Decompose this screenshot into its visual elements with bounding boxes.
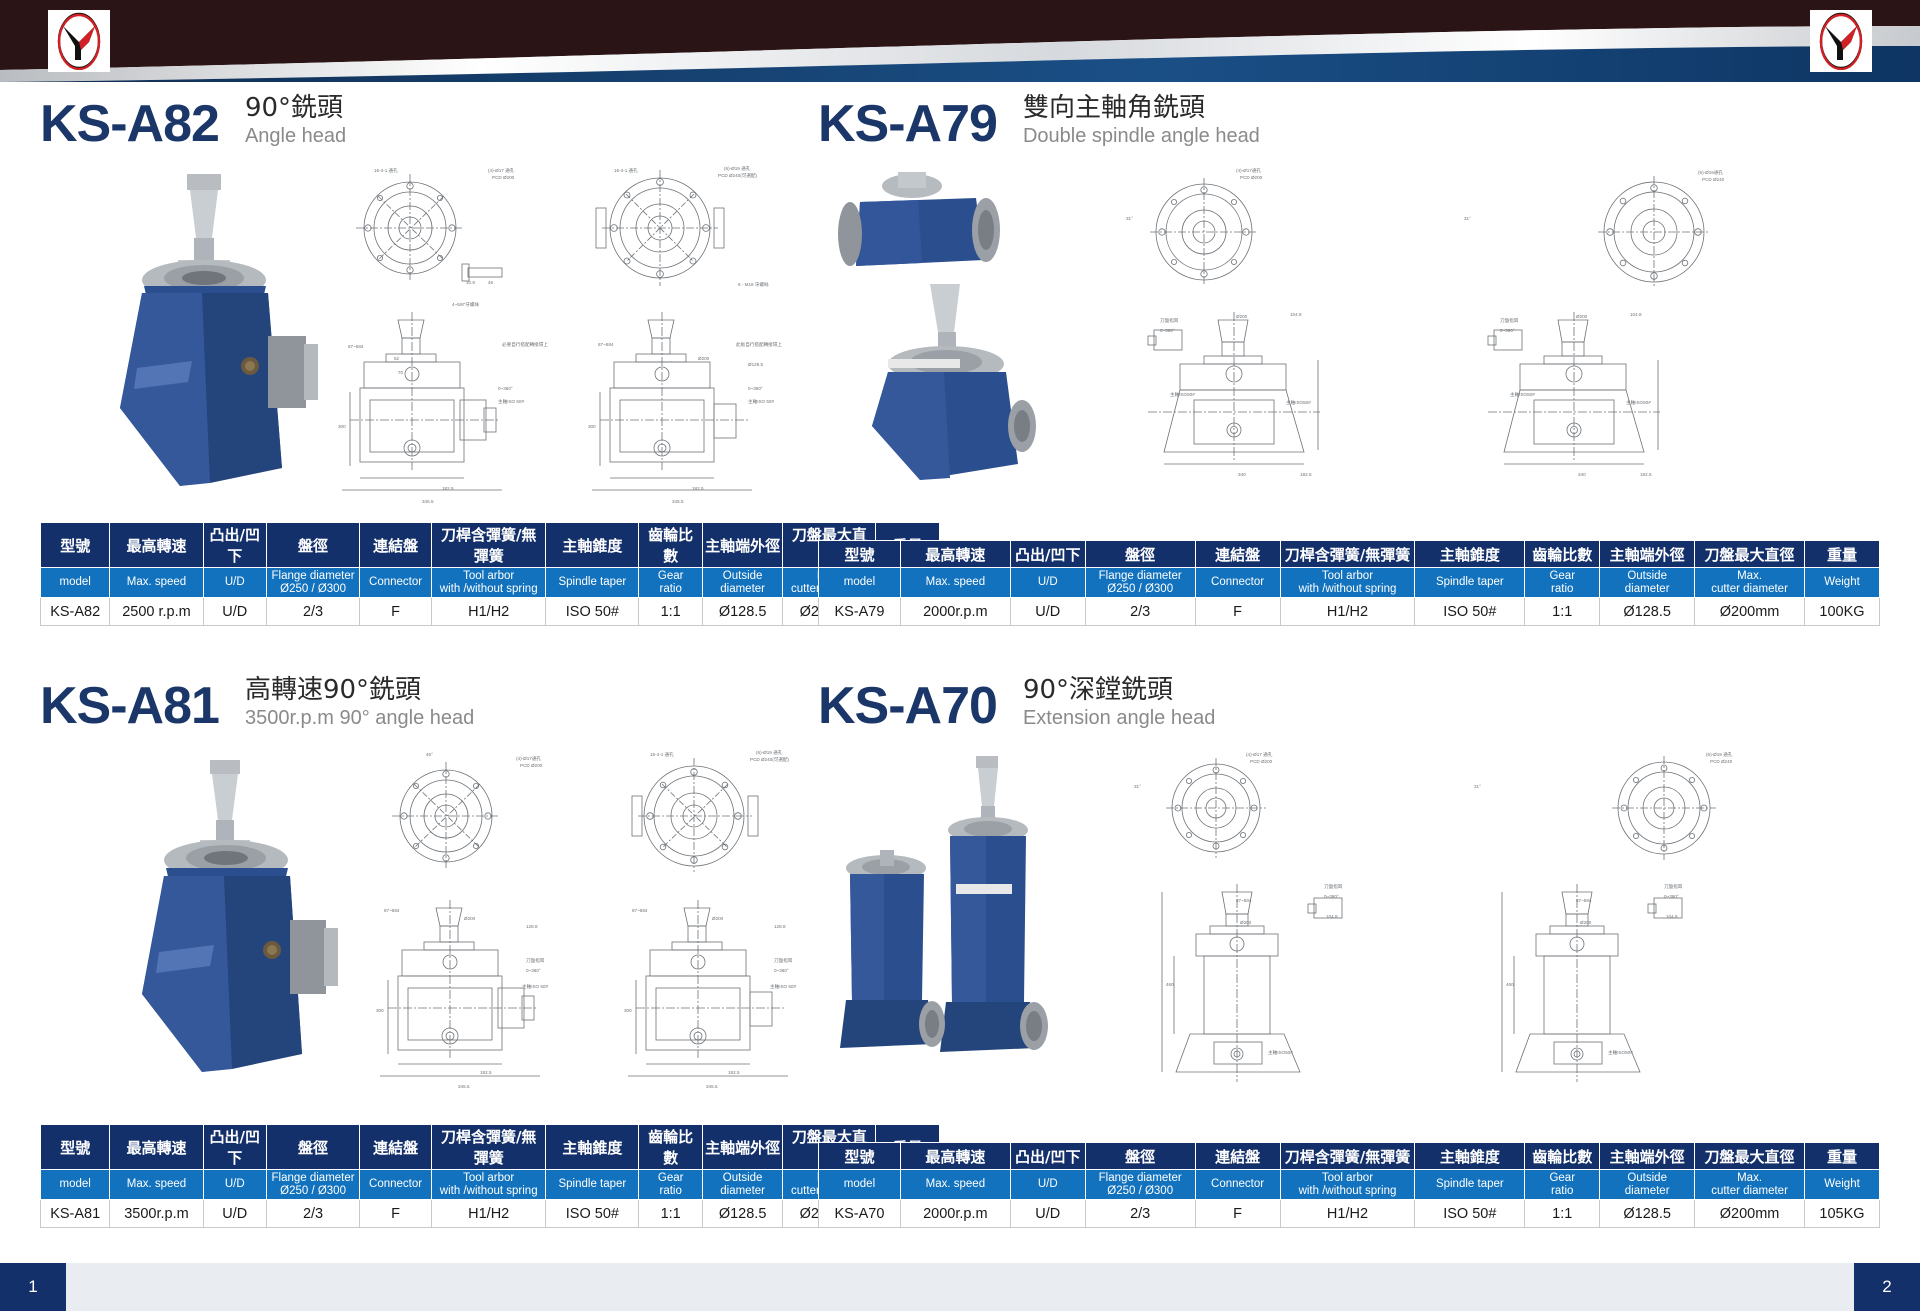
column-header-en-3: Flange diameterØ250 / Ø300: [267, 568, 360, 598]
cell-7: 1:1: [639, 1200, 702, 1228]
column-header-cn-2: 凸出/凹下: [1010, 541, 1085, 568]
svg-text:(6)-Ø19 通孔: (6)-Ø19 通孔: [724, 165, 751, 172]
column-header-cn-7: 齒輪比數: [639, 523, 702, 568]
spec-table-wrapper-ks-a82: 型號最高轉速凸出/凹下盤徑連結盤刀桿含彈簧/無彈簧主軸錐度齒輪比數主軸端外徑刀盤…: [40, 522, 940, 626]
cell-4: F: [1195, 1200, 1280, 1228]
column-header-en-1: Max. speed: [900, 568, 1010, 598]
svg-text:300: 300: [376, 1008, 384, 1013]
column-header-en-0: model: [819, 1170, 901, 1200]
svg-text:0~360°: 0~360°: [1500, 328, 1515, 333]
column-header-en-10: Weight: [1805, 1170, 1880, 1200]
cell-0: KS-A81: [41, 1200, 110, 1228]
svg-text:0~360°: 0~360°: [1160, 328, 1175, 333]
illustration-area: 16-4-1 通孔 (4)-Ø17 通孔 PCD Ø200 10.8 46 4~…: [40, 160, 940, 505]
column-header-en-6: Spindle taper: [1415, 568, 1525, 598]
column-header-en-8: Outsidediameter: [1600, 568, 1695, 598]
technical-drawing-side: (6)-Ø19 通孔 PCD Ø240 31° 87~584 刀盤指耳 0~36…: [1458, 742, 1838, 1092]
column-header-en-4: Connector: [1195, 1170, 1280, 1200]
cell-1: 2500 r.p.m: [110, 598, 203, 626]
technical-drawing-side: 16-4-1 通孔 (6)-Ø19 通孔 PCD Ø240(可選配) 87~58…: [588, 742, 848, 1092]
svg-text:87~584: 87~584: [348, 344, 364, 349]
technical-drawing-side: (6)-Ø19通孔 PCD Ø240 31° 刀盤指耳 0~360° Ø200 …: [1448, 160, 1828, 505]
product-block-ks-a70: KS-A70 90°深鏜銑頭 Extension angle head: [818, 668, 1880, 1228]
cell-6: ISO 50#: [1415, 1200, 1525, 1228]
cell-2: U/D: [1010, 1200, 1085, 1228]
svg-text:(4)-Ø17通孔: (4)-Ø17通孔: [1236, 167, 1261, 174]
product-name-en: Double spindle angle head: [1023, 124, 1260, 148]
svg-text:此板自行搭配轉接環上: 此板自行搭配轉接環上: [736, 341, 782, 348]
column-header-en-6: Spindle taper: [546, 568, 639, 598]
svg-text:128.8: 128.8: [526, 924, 538, 929]
column-header-en-6: Spindle taper: [546, 1170, 639, 1200]
column-header-cn-10: 重量: [1805, 541, 1880, 568]
column-header-en-7: Gearratio: [1525, 568, 1600, 598]
table-row: KS-A813500r.p.mU/D2/3FH1/H2ISO 50#1:1Ø12…: [41, 1200, 940, 1228]
column-header-cn-8: 主軸端外徑: [1600, 541, 1695, 568]
column-header-en-5: Tool arborwith /without spring: [432, 568, 546, 598]
cell-4: F: [1195, 598, 1280, 626]
svg-text:16-4-1 通孔: 16-4-1 通孔: [374, 167, 398, 174]
product-title-row: KS-A81 高轉速90°銑頭 3500r.p.m 90° angle head: [40, 668, 940, 732]
table-header-row-en: modelMax. speedU/DFlange diameterØ250 / …: [819, 568, 1880, 598]
svg-text:刀盤指耳: 刀盤指耳: [1500, 317, 1519, 324]
column-header-cn-2: 凸出/凹下: [203, 1125, 266, 1170]
table-header-row-cn: 型號最高轉速凸出/凹下盤徑連結盤刀桿含彈簧/無彈簧主軸錐度齒輪比數主軸端外徑刀盤…: [41, 1125, 940, 1170]
svg-text:6 - M18 牙螺絲: 6 - M18 牙螺絲: [738, 281, 769, 288]
svg-text:460: 460: [1506, 982, 1514, 987]
svg-text:(6)-Ø19 通孔: (6)-Ø19 通孔: [1706, 751, 1733, 758]
product-photo: [826, 164, 1076, 494]
column-header-cn-4: 連結盤: [360, 523, 432, 568]
cell-4: F: [360, 1200, 432, 1228]
page-footer: 1 2: [0, 1263, 1920, 1311]
column-header-en-0: model: [41, 568, 110, 598]
column-header-cn-0: 型號: [41, 523, 110, 568]
svg-text:(4)-Ø17通孔: (4)-Ø17通孔: [516, 755, 541, 762]
column-header-en-5: Tool arborwith /without spring: [1280, 568, 1415, 598]
svg-text:Ø200: Ø200: [464, 916, 476, 921]
svg-text:0~360°: 0~360°: [526, 968, 541, 973]
svg-text:300: 300: [624, 1008, 632, 1013]
cell-6: ISO 50#: [546, 1200, 639, 1228]
column-header-cn-7: 齒輪比數: [1525, 541, 1600, 568]
page-number-right: 2: [1854, 1263, 1920, 1311]
column-header-cn-9: 刀盤最大直徑: [1695, 541, 1805, 568]
column-header-en-8: Outsidediameter: [1600, 1170, 1695, 1200]
column-header-en-8: Outsidediameter: [702, 1170, 782, 1200]
cell-7: 1:1: [639, 598, 702, 626]
svg-text:PCD Ø200: PCD Ø200: [1250, 759, 1273, 764]
column-header-cn-7: 齒輪比數: [1525, 1143, 1600, 1170]
product-name-en: Angle head: [245, 124, 346, 148]
product-block-ks-a81: KS-A81 高轉速90°銑頭 3500r.p.m 90° angle head: [40, 668, 940, 1228]
svg-text:52: 52: [394, 356, 400, 361]
column-header-cn-5: 刀桿含彈簧/無彈簧: [432, 523, 546, 568]
svg-text:0~360°: 0~360°: [748, 386, 763, 391]
top-banner: [0, 0, 1920, 82]
column-header-cn-3: 盤徑: [267, 1125, 360, 1170]
column-header-cn-5: 刀桿含彈簧/無彈簧: [432, 1125, 546, 1170]
svg-text:182.5: 182.5: [1300, 472, 1312, 477]
svg-text:300: 300: [338, 424, 346, 429]
cell-8: Ø128.5: [702, 598, 782, 626]
column-header-en-3: Flange diameterØ250 / Ø300: [1085, 1170, 1195, 1200]
svg-text:45°: 45°: [426, 752, 433, 757]
cell-5: H1/H2: [432, 598, 546, 626]
column-header-en-7: Gearratio: [639, 568, 702, 598]
svg-text:刀盤指耳: 刀盤指耳: [526, 957, 545, 964]
svg-text:主軸ISO 50#: 主軸ISO 50#: [748, 398, 774, 405]
product-name-en: 3500r.p.m 90° angle head: [245, 706, 474, 730]
cell-10: 100KG: [1805, 598, 1880, 626]
column-header-cn-2: 凸出/凹下: [1010, 1143, 1085, 1170]
svg-text:(4)-Ø17 通孔: (4)-Ø17 通孔: [1246, 751, 1273, 758]
svg-text:46: 46: [488, 280, 494, 285]
table-header-row-cn: 型號最高轉速凸出/凹下盤徑連結盤刀桿含彈簧/無彈簧主軸錐度齒輪比數主軸端外徑刀盤…: [819, 541, 1880, 568]
column-header-cn-4: 連結盤: [1195, 541, 1280, 568]
product-name-cn: 90°深鏜銑頭: [1023, 676, 1215, 706]
column-header-cn-6: 主軸錐度: [1415, 541, 1525, 568]
product-code: KS-A81: [40, 680, 219, 732]
svg-text:Ø200: Ø200: [698, 356, 710, 361]
svg-text:345.5: 345.5: [672, 499, 684, 504]
svg-text:刀盤指耳: 刀盤指耳: [1160, 317, 1179, 324]
column-header-cn-1: 最高轉速: [900, 1143, 1010, 1170]
svg-text:104.8: 104.8: [1290, 312, 1302, 317]
svg-text:Ø200: Ø200: [1580, 920, 1592, 925]
svg-text:PCD Ø240(可選配): PCD Ø240(可選配): [718, 172, 758, 179]
cell-0: KS-A70: [819, 1200, 901, 1228]
cell-7: 1:1: [1525, 598, 1600, 626]
product-photo: [98, 756, 348, 1086]
product-code: KS-A82: [40, 98, 219, 150]
svg-text:4~5/8"牙螺絲: 4~5/8"牙螺絲: [452, 301, 479, 308]
column-header-en-0: model: [41, 1170, 110, 1200]
column-header-cn-0: 型號: [41, 1125, 110, 1170]
svg-text:31°: 31°: [1134, 784, 1141, 789]
svg-text:87~584: 87~584: [384, 908, 400, 913]
column-header-en-7: Gearratio: [639, 1170, 702, 1200]
svg-text:Ø128.5: Ø128.5: [748, 362, 764, 367]
svg-text:(6)-Ø19通孔: (6)-Ø19通孔: [1698, 169, 1723, 176]
svg-text:0~360°: 0~360°: [774, 968, 789, 973]
svg-text:主軸ISO 50#: 主軸ISO 50#: [498, 398, 524, 405]
svg-text:70: 70: [398, 370, 404, 375]
page-number-left: 1: [0, 1263, 66, 1311]
cell-0: KS-A79: [819, 598, 901, 626]
svg-text:182.5: 182.5: [728, 1070, 740, 1075]
column-header-en-3: Flange diameterØ250 / Ø300: [267, 1170, 360, 1200]
product-name-cn: 高轉速90°銑頭: [245, 676, 474, 706]
svg-text:Ø200: Ø200: [712, 916, 724, 921]
table-header-row-cn: 型號最高轉速凸出/凹下盤徑連結盤刀桿含彈簧/無彈簧主軸錐度齒輪比數主軸端外徑刀盤…: [819, 1143, 1880, 1170]
svg-text:87~584: 87~584: [1236, 898, 1252, 903]
column-header-cn-4: 連結盤: [1195, 1143, 1280, 1170]
svg-text:PCD Ø240: PCD Ø240: [1710, 759, 1733, 764]
column-header-en-0: model: [819, 568, 901, 598]
cell-6: ISO 50#: [1415, 598, 1525, 626]
svg-text:PCD Ø240: PCD Ø240: [1702, 177, 1725, 182]
product-block-ks-a82: KS-A82 90°銑頭 Angle head: [40, 86, 940, 626]
column-header-cn-10: 重量: [1805, 1143, 1880, 1170]
column-header-en-10: Weight: [1805, 568, 1880, 598]
illustration-area: (4)-Ø17 通孔 PCD Ø200 31° 87~584 刀盤指耳 0~36…: [818, 742, 1880, 1102]
spec-table-wrapper-ks-a79: 型號最高轉速凸出/凹下盤徑連結盤刀桿含彈簧/無彈簧主軸錐度齒輪比數主軸端外徑刀盤…: [818, 540, 1880, 626]
column-header-cn-0: 型號: [819, 1143, 901, 1170]
cell-8: Ø128.5: [1600, 598, 1695, 626]
column-header-en-1: Max. speed: [110, 568, 203, 598]
table-header-row-en: modelMax. speedU/DFlange diameterØ250 / …: [41, 568, 940, 598]
product-title-row: KS-A70 90°深鏜銑頭 Extension angle head: [818, 668, 1880, 732]
svg-text:Ø200: Ø200: [1240, 920, 1252, 925]
svg-text:87~584: 87~584: [632, 908, 648, 913]
column-header-en-8: Outsidediameter: [702, 568, 782, 598]
cell-2: U/D: [1010, 598, 1085, 626]
column-header-en-3: Flange diameterØ250 / Ø300: [1085, 568, 1195, 598]
product-photo: [828, 752, 1088, 1092]
cell-2: U/D: [203, 598, 266, 626]
column-header-cn-6: 主軸錐度: [546, 1125, 639, 1170]
svg-text:(6)-Ø19 通孔: (6)-Ø19 通孔: [756, 749, 783, 756]
cell-9: Ø200mm: [1695, 598, 1805, 626]
svg-text:87~584: 87~584: [1576, 898, 1592, 903]
column-header-en-9: Max.cutter diameter: [1695, 1170, 1805, 1200]
product-name-cn: 雙向主軸角銑頭: [1023, 94, 1260, 124]
column-header-cn-8: 主軸端外徑: [1600, 1143, 1695, 1170]
svg-text:16-4-1 通孔: 16-4-1 通孔: [614, 167, 638, 174]
product-code: KS-A79: [818, 98, 997, 150]
product-name-cn: 90°銑頭: [245, 94, 346, 124]
svg-text:460: 460: [1166, 982, 1174, 987]
svg-text:主軸ISO 50#: 主軸ISO 50#: [522, 983, 548, 990]
column-header-en-1: Max. speed: [900, 1170, 1010, 1200]
table-header-row-en: modelMax. speedU/DFlange diameterØ250 / …: [41, 1170, 940, 1200]
svg-text:16-4-1 通孔: 16-4-1 通孔: [650, 751, 674, 758]
cell-1: 3500r.p.m: [110, 1200, 203, 1228]
svg-text:PCD Ø240(可選配): PCD Ø240(可選配): [750, 756, 790, 763]
cell-8: Ø128.5: [702, 1200, 782, 1228]
svg-text:87~584: 87~584: [598, 342, 614, 347]
column-header-en-2: U/D: [203, 568, 266, 598]
spec-table: 型號最高轉速凸出/凹下盤徑連結盤刀桿含彈簧/無彈簧主軸錐度齒輪比數主軸端外徑刀盤…: [818, 1142, 1880, 1228]
column-header-cn-4: 連結盤: [360, 1125, 432, 1170]
svg-text:主軸ISO50#: 主軸ISO50#: [1510, 391, 1535, 398]
company-logo-left: [48, 10, 110, 72]
column-header-cn-1: 最高轉速: [110, 1125, 203, 1170]
svg-text:主軸ISO50#: 主軸ISO50#: [1608, 1049, 1633, 1056]
cell-1: 2000r.p.m: [900, 1200, 1010, 1228]
column-header-cn-5: 刀桿含彈簧/無彈簧: [1280, 541, 1415, 568]
cell-1: 2000r.p.m: [900, 598, 1010, 626]
technical-drawing-front: 45° (4)-Ø17通孔 PCD Ø200 87~584 300 182.5 …: [340, 742, 600, 1092]
product-photo: [82, 168, 332, 498]
column-header-cn-3: 盤徑: [267, 523, 360, 568]
svg-text:128.8: 128.8: [774, 924, 786, 929]
spec-table-wrapper-ks-a81: 型號最高轉速凸出/凹下盤徑連結盤刀桿含彈簧/無彈簧主軸錐度齒輪比數主軸端外徑刀盤…: [40, 1124, 940, 1228]
svg-text:主軸ISO 50#: 主軸ISO 50#: [770, 983, 796, 990]
column-header-en-6: Spindle taper: [1415, 1170, 1525, 1200]
svg-text:PCD Ø200: PCD Ø200: [492, 175, 515, 180]
product-title-row: KS-A79 雙向主軸角銑頭 Double spindle angle head: [818, 86, 1880, 150]
column-header-en-4: Connector: [360, 568, 432, 598]
technical-drawing-front: 16-4-1 通孔 (4)-Ø17 通孔 PCD Ø200 10.8 46 4~…: [302, 160, 562, 505]
svg-text:PCD Ø200: PCD Ø200: [1240, 175, 1263, 180]
cell-3: 2/3: [267, 598, 360, 626]
illustration-area: (4)-Ø17通孔 PCD Ø200 31° 刀盤指耳 0~360° Ø200 …: [818, 160, 1880, 505]
svg-text:必要自行搭配轉接環上: 必要自行搭配轉接環上: [502, 341, 548, 348]
spec-table: 型號最高轉速凸出/凹下盤徑連結盤刀桿含彈簧/無彈簧主軸錐度齒輪比數主軸端外徑刀盤…: [40, 1124, 940, 1228]
column-header-cn-3: 盤徑: [1085, 1143, 1195, 1170]
catalog-page: KS-A82 90°銑頭 Angle head: [0, 0, 1920, 1311]
svg-text:340: 340: [1578, 472, 1586, 477]
column-header-cn-3: 盤徑: [1085, 541, 1195, 568]
company-logo-right: [1810, 10, 1872, 72]
svg-text:345.5: 345.5: [706, 1084, 718, 1089]
svg-text:31°: 31°: [1126, 216, 1133, 221]
spec-table: 型號最高轉速凸出/凹下盤徑連結盤刀桿含彈簧/無彈簧主軸錐度齒輪比數主軸端外徑刀盤…: [818, 540, 1880, 626]
illustration-area: 45° (4)-Ø17通孔 PCD Ø200 87~584 300 182.5 …: [40, 742, 940, 1102]
cell-2: U/D: [203, 1200, 266, 1228]
cell-3: 2/3: [267, 1200, 360, 1228]
table-header-row-cn: 型號最高轉速凸出/凹下盤徑連結盤刀桿含彈簧/無彈簧主軸錐度齒輪比數主軸端外徑刀盤…: [41, 523, 940, 568]
cell-7: 1:1: [1525, 1200, 1600, 1228]
table-row: KS-A822500 r.p.mU/D2/3FH1/H2ISO 50#1:1Ø1…: [41, 598, 940, 626]
column-header-cn-8: 主軸端外徑: [702, 1125, 782, 1170]
cell-10: 105KG: [1805, 1200, 1880, 1228]
svg-text:31°: 31°: [1474, 784, 1481, 789]
svg-text:刀盤指耳: 刀盤指耳: [1664, 883, 1683, 890]
cell-5: H1/H2: [432, 1200, 546, 1228]
svg-text:刀盤指耳: 刀盤指耳: [774, 957, 793, 964]
svg-text:345.5: 345.5: [458, 1084, 470, 1089]
table-row: KS-A792000r.p.mU/D2/3FH1/H2ISO 50#1:1Ø12…: [819, 598, 1880, 626]
column-header-cn-5: 刀桿含彈簧/無彈簧: [1280, 1143, 1415, 1170]
column-header-en-4: Connector: [1195, 568, 1280, 598]
svg-text:340: 340: [1238, 472, 1246, 477]
cell-5: H1/H2: [1280, 1200, 1415, 1228]
technical-drawing-front: (4)-Ø17通孔 PCD Ø200 31° 刀盤指耳 0~360° Ø200 …: [1108, 160, 1488, 505]
table-header-row-en: modelMax. speedU/DFlange diameterØ250 / …: [819, 1170, 1880, 1200]
column-header-en-5: Tool arborwith /without spring: [432, 1170, 546, 1200]
column-header-cn-0: 型號: [819, 541, 901, 568]
svg-text:300: 300: [588, 424, 596, 429]
column-header-cn-6: 主軸錐度: [546, 523, 639, 568]
cell-3: 2/3: [1085, 1200, 1195, 1228]
column-header-cn-1: 最高轉速: [110, 523, 203, 568]
product-name-en: Extension angle head: [1023, 706, 1215, 730]
product-title-row: KS-A82 90°銑頭 Angle head: [40, 86, 940, 150]
column-header-en-2: U/D: [1010, 1170, 1085, 1200]
spec-table-wrapper-ks-a70: 型號最高轉速凸出/凹下盤徑連結盤刀桿含彈簧/無彈簧主軸錐度齒輪比數主軸端外徑刀盤…: [818, 1142, 1880, 1228]
svg-text:PCD Ø200: PCD Ø200: [520, 763, 543, 768]
column-header-en-2: U/D: [1010, 568, 1085, 598]
svg-text:Ø200: Ø200: [1236, 314, 1248, 319]
technical-drawing-front: (4)-Ø17 通孔 PCD Ø200 31° 87~584 刀盤指耳 0~36…: [1118, 742, 1498, 1092]
svg-text:(4)-Ø17 通孔: (4)-Ø17 通孔: [488, 167, 515, 174]
svg-text:182.5: 182.5: [480, 1070, 492, 1075]
cell-3: 2/3: [1085, 598, 1195, 626]
svg-text:主軸ISO50#: 主軸ISO50#: [1170, 391, 1195, 398]
product-block-ks-a79: KS-A79 雙向主軸角銑頭 Double spindle angle head: [818, 86, 1880, 626]
svg-text:182.5: 182.5: [1640, 472, 1652, 477]
column-header-en-1: Max. speed: [110, 1170, 203, 1200]
column-header-en-2: U/D: [203, 1170, 266, 1200]
cell-4: F: [360, 598, 432, 626]
column-header-cn-7: 齒輪比數: [639, 1125, 702, 1170]
svg-text:345.5: 345.5: [422, 499, 434, 504]
column-header-en-7: Gearratio: [1525, 1170, 1600, 1200]
cell-0: KS-A82: [41, 598, 110, 626]
svg-text:0~360°: 0~360°: [498, 386, 513, 391]
column-header-cn-6: 主軸錐度: [1415, 1143, 1525, 1170]
cell-6: ISO 50#: [546, 598, 639, 626]
column-header-cn-9: 刀盤最大直徑: [1695, 1143, 1805, 1170]
column-header-en-9: Max.cutter diameter: [1695, 568, 1805, 598]
column-header-cn-1: 最高轉速: [900, 541, 1010, 568]
table-row: KS-A702000r.p.mU/D2/3FH1/H2ISO 50#1:1Ø12…: [819, 1200, 1880, 1228]
column-header-cn-8: 主軸端外徑: [702, 523, 782, 568]
footer-bar: [0, 1263, 1920, 1311]
column-header-en-4: Connector: [360, 1170, 432, 1200]
cell-8: Ø128.5: [1600, 1200, 1695, 1228]
svg-text:刀盤指耳: 刀盤指耳: [1324, 883, 1343, 890]
spec-table: 型號最高轉速凸出/凹下盤徑連結盤刀桿含彈簧/無彈簧主軸錐度齒輪比數主軸端外徑刀盤…: [40, 522, 940, 626]
product-code: KS-A70: [818, 680, 997, 732]
cell-5: H1/H2: [1280, 598, 1415, 626]
svg-text:Ø200: Ø200: [1576, 314, 1588, 319]
column-header-en-5: Tool arborwith /without spring: [1280, 1170, 1415, 1200]
column-header-cn-2: 凸出/凹下: [203, 523, 266, 568]
technical-drawing-side: 16-4-1 通孔 (6)-Ø19 通孔 PCD Ø240(可選配) 6 - M…: [552, 160, 812, 505]
svg-text:104.8: 104.8: [1630, 312, 1642, 317]
cell-9: Ø200mm: [1695, 1200, 1805, 1228]
svg-text:31°: 31°: [1464, 216, 1471, 221]
svg-text:主軸ISO50#: 主軸ISO50#: [1268, 1049, 1293, 1056]
